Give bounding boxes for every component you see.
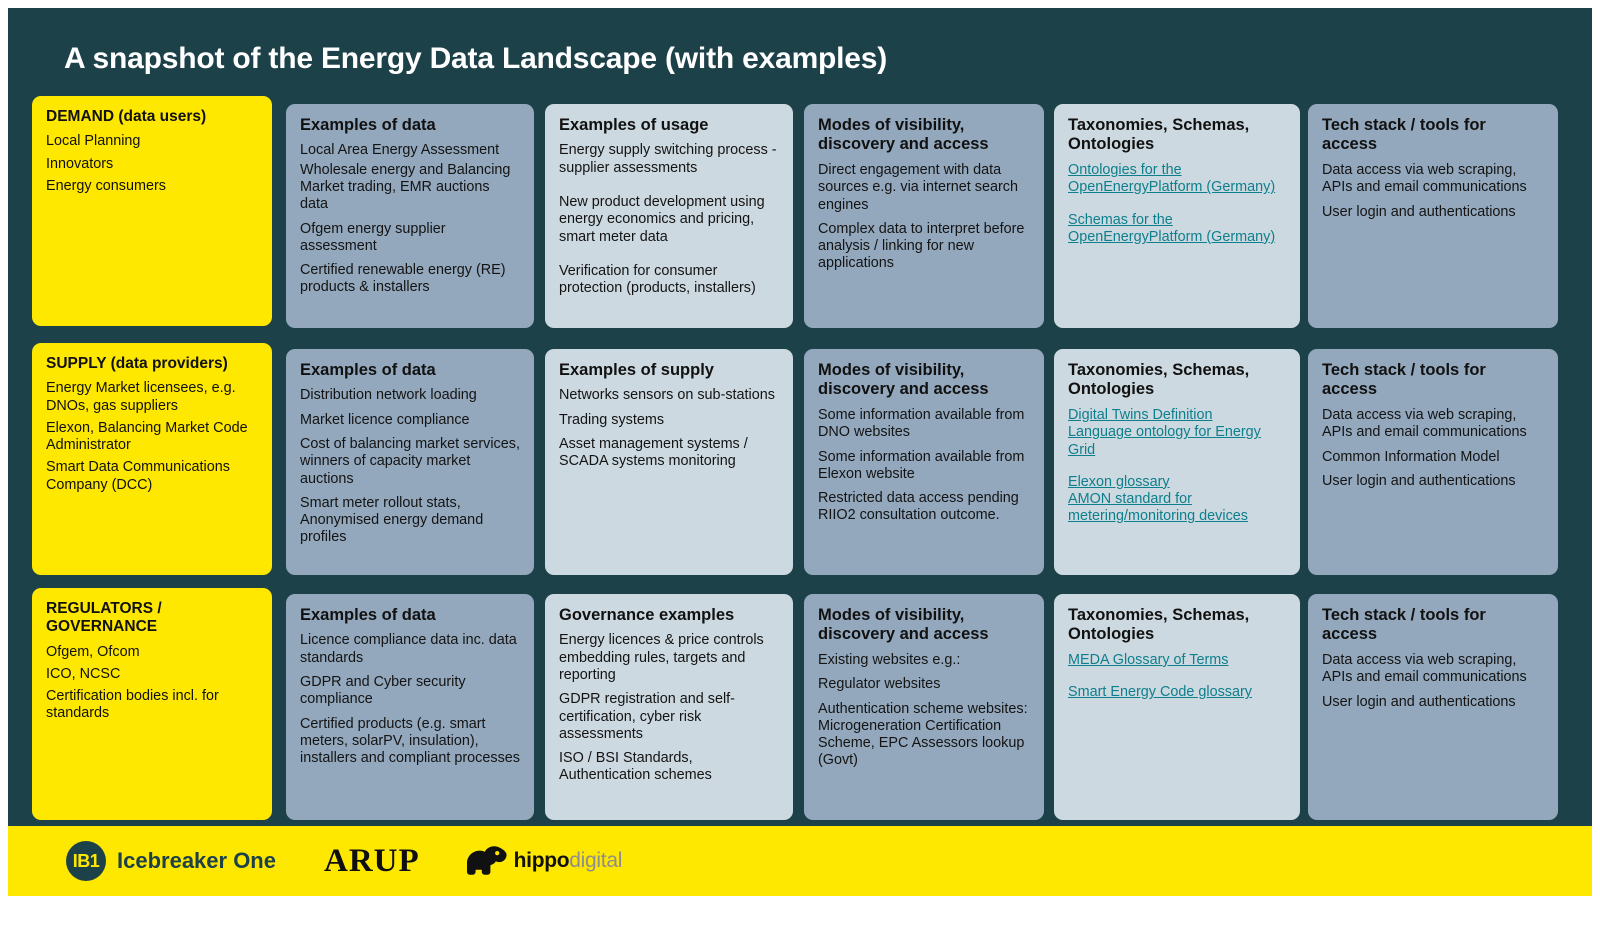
card-list: Some information available from DNO webs… <box>818 407 1030 525</box>
list-item: Some information available from Elexon w… <box>818 449 1030 484</box>
card-heading: Tech stack / tools for access <box>1322 361 1544 400</box>
card-heading: Governance examples <box>559 606 779 625</box>
card-heading: REGULATORS / GOVERNANCE <box>46 600 258 637</box>
card-regulators-governance-examples: Governance examples Energy licences & pr… <box>545 594 793 820</box>
list-item: Data access via web scraping, APIs and e… <box>1322 162 1544 197</box>
link-group[interactable]: Schemas for the OpenEnergyPlatform (Germ… <box>1068 212 1286 247</box>
list-item: Some information available from DNO webs… <box>818 407 1030 442</box>
external-link[interactable]: Ontologies for the <box>1068 162 1286 179</box>
list-item: Licence compliance data inc. data standa… <box>300 632 520 667</box>
list-item: Market licence compliance <box>300 412 520 429</box>
card-list: Ofgem, Ofcom ICO, NCSC Certification bod… <box>46 644 258 723</box>
card-heading: Examples of data <box>300 606 520 625</box>
card-heading: Modes of visibility, discovery and acces… <box>818 606 1030 645</box>
card-heading: Examples of supply <box>559 361 779 380</box>
external-link[interactable]: AMON standard for <box>1068 491 1286 508</box>
list-item: GDPR and Cyber security compliance <box>300 674 520 709</box>
list-item: Certified renewable energy (RE) products… <box>300 262 520 297</box>
list-item: Energy licences & price controls embeddi… <box>559 632 779 684</box>
card-supply-examples-of-data: Examples of data Distribution network lo… <box>286 349 534 575</box>
list-item: Certification bodies incl. for standards <box>46 688 258 723</box>
list-item: Asset management systems / SCADA systems… <box>559 436 779 471</box>
card-heading: Taxonomies, Schemas, Ontologies <box>1068 361 1286 400</box>
list-item: Ofgem, Ofcom <box>46 644 258 661</box>
external-link[interactable]: OpenEnergyPlatform (Germany) <box>1068 229 1286 246</box>
hippo-icon <box>464 844 510 878</box>
link-group[interactable]: Digital Twins Definition Language ontolo… <box>1068 407 1286 459</box>
card-demand-profile: DEMAND (data users) Local Planning Innov… <box>32 96 272 326</box>
card-heading: Modes of visibility, discovery and acces… <box>818 361 1030 400</box>
list-item: Certified products (e.g. smart meters, s… <box>300 716 520 768</box>
external-link[interactable]: Schemas for the <box>1068 212 1286 229</box>
external-link[interactable]: Grid <box>1068 442 1286 459</box>
logo-icebreaker-one-label: Icebreaker One <box>117 848 276 874</box>
list-item: Data access via web scraping, APIs and e… <box>1322 407 1544 442</box>
card-heading: DEMAND (data users) <box>46 108 258 126</box>
card-demand-examples-of-data: Examples of data Local Area Energy Asses… <box>286 104 534 328</box>
list-item: Energy consumers <box>46 178 258 195</box>
list-item: Trading systems <box>559 412 779 429</box>
card-heading: Examples of usage <box>559 116 779 135</box>
logo-hippo-digital[interactable]: hippodigital <box>464 844 622 878</box>
poster: A snapshot of the Energy Data Landscape … <box>0 0 1600 950</box>
list-item: Authentication scheme websites: Microgen… <box>818 701 1030 770</box>
card-demand-taxonomies: Taxonomies, Schemas, Ontologies Ontologi… <box>1054 104 1300 328</box>
list-item: Direct engagement with data sources e.g.… <box>818 162 1030 214</box>
hippo-word-light: digital <box>569 849 622 872</box>
list-item: User login and authentications <box>1322 473 1544 490</box>
card-supply-profile: SUPPLY (data providers) Energy Market li… <box>32 343 272 575</box>
list-item: Energy Market licensees, e.g. DNOs, gas … <box>46 380 258 415</box>
card-supply-examples-of-supply: Examples of supply Networks sensors on s… <box>545 349 793 575</box>
card-list: Existing websites e.g.: Regulator websit… <box>818 652 1030 770</box>
card-regulators-examples-of-data: Examples of data Licence compliance data… <box>286 594 534 820</box>
list-item: Networks sensors on sub-stations <box>559 387 779 404</box>
card-heading: Tech stack / tools for access <box>1322 606 1544 645</box>
list-item: Ofgem energy supplier assessment <box>300 221 520 256</box>
card-heading: Examples of data <box>300 361 520 380</box>
list-item: User login and authentications <box>1322 694 1544 711</box>
list-item: Cost of balancing market services, winne… <box>300 436 520 488</box>
card-list: Distribution network loading Market lice… <box>300 387 520 546</box>
card-list: Local Planning Innovators Energy consume… <box>46 133 258 195</box>
list-item: Complex data to interpret before analysi… <box>818 221 1030 273</box>
card-grid: DEMAND (data users) Local Planning Innov… <box>8 8 1592 896</box>
card-list: Energy licences & price controls embeddi… <box>559 632 779 784</box>
external-link[interactable]: Smart Energy Code glossary <box>1068 684 1286 701</box>
card-supply-modes-of-visibility: Modes of visibility, discovery and acces… <box>804 349 1044 575</box>
list-item: Smart meter rollout stats, Anonymised en… <box>300 495 520 547</box>
card-demand-examples-of-usage: Examples of usage Energy supply switchin… <box>545 104 793 328</box>
card-list: Local Area Energy Assessment Wholesale e… <box>300 142 520 296</box>
list-item: Regulator websites <box>818 676 1030 693</box>
external-link[interactable]: Language ontology for Energy <box>1068 424 1286 441</box>
external-link[interactable]: Digital Twins Definition <box>1068 407 1286 424</box>
card-supply-taxonomies: Taxonomies, Schemas, Ontologies Digital … <box>1054 349 1300 575</box>
link-group[interactable]: Ontologies for the OpenEnergyPlatform (G… <box>1068 162 1286 197</box>
list-item: Elexon, Balancing Market Code Administra… <box>46 420 258 455</box>
external-link[interactable]: MEDA Glossary of Terms <box>1068 652 1286 669</box>
link-group[interactable]: MEDA Glossary of Terms <box>1068 652 1286 669</box>
footer-logo-bar: IB1 Icebreaker One ARUP hippodigital <box>8 826 1592 896</box>
list-item: ISO / BSI Standards, Authentication sche… <box>559 750 779 785</box>
card-demand-modes-of-visibility: Modes of visibility, discovery and acces… <box>804 104 1044 328</box>
link-group[interactable]: Smart Energy Code glossary <box>1068 684 1286 701</box>
card-list: Energy supply switching process - suppli… <box>559 142 779 297</box>
link-group[interactable]: Elexon glossary AMON standard for meteri… <box>1068 474 1286 526</box>
list-item: Innovators <box>46 156 258 173</box>
external-link[interactable]: Elexon glossary <box>1068 474 1286 491</box>
card-list: Energy Market licensees, e.g. DNOs, gas … <box>46 380 258 494</box>
hippo-word-bold: hippo <box>514 849 570 872</box>
list-item: ICO, NCSC <box>46 666 258 683</box>
list-item: User login and authentications <box>1322 204 1544 221</box>
card-list: Licence compliance data inc. data standa… <box>300 632 520 767</box>
list-item: Data access via web scraping, APIs and e… <box>1322 652 1544 687</box>
list-item: Restricted data access pending RIIO2 con… <box>818 490 1030 525</box>
external-link[interactable]: metering/monitoring devices <box>1068 508 1286 525</box>
card-regulators-modes-of-visibility: Modes of visibility, discovery and acces… <box>804 594 1044 820</box>
card-regulators-tech-stack: Tech stack / tools for access Data acces… <box>1308 594 1558 820</box>
card-supply-tech-stack: Tech stack / tools for access Data acces… <box>1308 349 1558 575</box>
list-item: Existing websites e.g.: <box>818 652 1030 669</box>
list-item: Wholesale energy and Balancing Market tr… <box>300 162 520 214</box>
logo-icebreaker-one[interactable]: IB1 Icebreaker One <box>66 841 276 881</box>
logo-hippo-digital-label: hippodigital <box>514 849 622 873</box>
card-list: Data access via web scraping, APIs and e… <box>1322 407 1544 490</box>
poster-canvas: A snapshot of the Energy Data Landscape … <box>8 8 1592 896</box>
list-item: Energy supply switching process - suppli… <box>559 142 779 177</box>
card-list: Data access via web scraping, APIs and e… <box>1322 652 1544 711</box>
ib1-badge-icon: IB1 <box>66 841 106 881</box>
list-item: Distribution network loading <box>300 387 520 404</box>
card-heading: Tech stack / tools for access <box>1322 116 1544 155</box>
list-item: Common Information Model <box>1322 449 1544 466</box>
external-link[interactable]: OpenEnergyPlatform (Germany) <box>1068 179 1286 196</box>
list-item: Local Planning <box>46 133 258 150</box>
list-item: Smart Data Communications Company (DCC) <box>46 459 258 494</box>
list-item: GDPR registration and self-certification… <box>559 691 779 743</box>
card-heading: Modes of visibility, discovery and acces… <box>818 116 1030 155</box>
card-list: Direct engagement with data sources e.g.… <box>818 162 1030 273</box>
card-regulators-taxonomies: Taxonomies, Schemas, Ontologies MEDA Glo… <box>1054 594 1300 820</box>
card-heading: SUPPLY (data providers) <box>46 355 258 373</box>
list-item: New product development using energy eco… <box>559 194 779 246</box>
logo-arup[interactable]: ARUP <box>324 843 420 880</box>
list-item: Verification for consumer protection (pr… <box>559 263 779 298</box>
card-list: Networks sensors on sub-stations Trading… <box>559 387 779 470</box>
card-heading: Examples of data <box>300 116 520 135</box>
card-heading: Taxonomies, Schemas, Ontologies <box>1068 116 1286 155</box>
card-heading: Taxonomies, Schemas, Ontologies <box>1068 606 1286 645</box>
card-regulators-profile: REGULATORS / GOVERNANCE Ofgem, Ofcom ICO… <box>32 588 272 820</box>
card-list: Data access via web scraping, APIs and e… <box>1322 162 1544 221</box>
card-demand-tech-stack: Tech stack / tools for access Data acces… <box>1308 104 1558 328</box>
list-item: Local Area Energy Assessment <box>300 142 520 159</box>
